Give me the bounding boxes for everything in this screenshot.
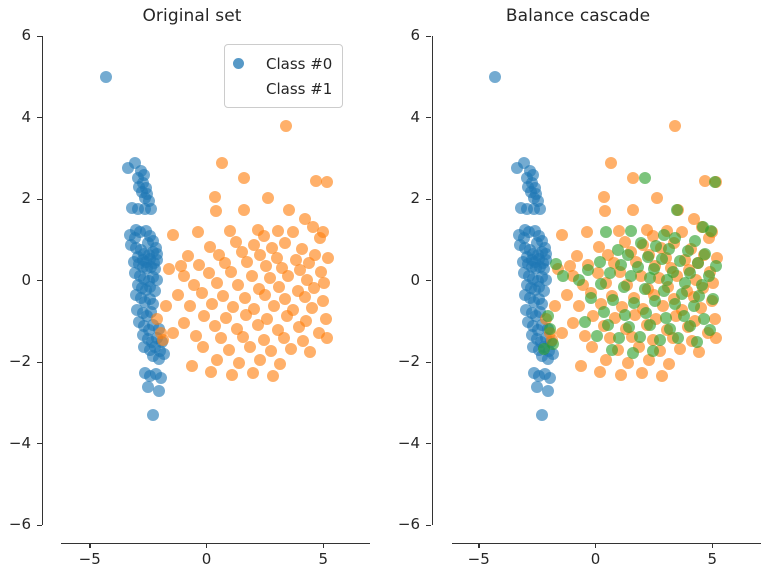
x-axis-tick-label: 5: [692, 552, 732, 567]
scatter-point: [615, 369, 627, 381]
scatter-point: [267, 370, 279, 382]
scatter-point: [679, 277, 691, 289]
scatter-point: [567, 317, 579, 329]
scatter-point: [206, 298, 218, 310]
scatter-point: [155, 372, 167, 384]
scatter-point: [634, 331, 646, 343]
scatter-point: [595, 278, 607, 290]
scatter-point: [669, 298, 681, 310]
y-axis-tick: [37, 443, 42, 444]
scatter-point: [321, 332, 333, 344]
y-axis-tick-label: −2: [5, 354, 31, 368]
scatter-point: [321, 176, 333, 188]
y-axis-tick: [37, 36, 42, 37]
scatter-point: [142, 381, 154, 393]
scatter-point: [296, 243, 308, 255]
scatter-point: [619, 309, 631, 321]
scatter-point: [223, 344, 235, 356]
legend-entry[interactable]: Class #0: [233, 51, 332, 76]
y-axis-tick: [426, 117, 431, 118]
scatter-point: [178, 317, 190, 329]
scatter-point: [640, 307, 652, 319]
legend-entry-label: Class #0: [266, 55, 332, 73]
scatter-point: [308, 282, 320, 294]
scatter-point: [233, 357, 245, 369]
scatter-point: [598, 191, 610, 203]
y-axis-tick: [426, 362, 431, 363]
scatter-point: [613, 332, 625, 344]
scatter-point: [536, 409, 548, 421]
x-axis-tick-label: 0: [576, 552, 616, 567]
scatter-point: [663, 358, 675, 370]
scatter-point: [280, 120, 292, 132]
scatter-point: [644, 319, 656, 331]
scatter-point: [240, 309, 252, 321]
scatter-point: [209, 320, 221, 332]
scatter-point: [247, 367, 259, 379]
scatter-point: [216, 157, 228, 169]
scatter-point: [561, 289, 573, 301]
x-axis-tick-label: 0: [187, 552, 227, 567]
scatter-point: [197, 341, 209, 353]
scatter-point: [145, 203, 157, 215]
scatter-point: [594, 366, 606, 378]
y-axis-tick-label: 4: [394, 110, 420, 124]
scatter-point: [238, 204, 250, 216]
scatter-point: [542, 385, 554, 397]
scatter-point: [232, 279, 244, 291]
scatter-point: [649, 295, 661, 307]
scatter-point: [618, 281, 630, 293]
scatter-point: [627, 347, 639, 359]
scatter-point: [287, 226, 299, 238]
legend-entry-label: Class #1: [266, 80, 332, 98]
scatter-point: [272, 225, 284, 237]
scatter-point: [244, 341, 256, 353]
scatter-point: [147, 409, 159, 421]
scatter-point: [254, 354, 266, 366]
scatter-point: [607, 294, 619, 306]
scatter-point: [304, 346, 316, 358]
x-axis-tick: [595, 543, 596, 548]
figure-canvas: Original set Class #0Class #1 Balance ca…: [0, 0, 771, 583]
scatter-point: [198, 310, 210, 322]
scatter-point: [674, 343, 686, 355]
scatter-point: [211, 354, 223, 366]
y-axis-tick-label: −6: [5, 517, 31, 531]
scatter-point: [599, 205, 611, 217]
scatter-point: [542, 310, 554, 322]
scatter-point: [215, 332, 227, 344]
scatter-point: [688, 300, 700, 312]
scatter-point: [598, 306, 610, 318]
scatter-point: [602, 319, 614, 331]
scatter-point: [586, 341, 598, 353]
scatter-point: [534, 203, 546, 215]
scatter-point: [211, 277, 223, 289]
scatter-point: [585, 292, 597, 304]
scatter-point: [709, 176, 721, 188]
scatter-point: [192, 226, 204, 238]
panel-title-original: Original set: [0, 2, 387, 30]
scatter-point: [538, 343, 550, 355]
legend-entry[interactable]: Class #1: [233, 76, 332, 101]
scatter-point: [238, 172, 250, 184]
legend-marker-icon: [233, 83, 244, 94]
scatter-point: [283, 204, 295, 216]
scatter-point: [268, 300, 280, 312]
scatter-point: [252, 319, 264, 331]
scatter-point: [259, 289, 271, 301]
scatter-point: [320, 313, 332, 325]
y-axis-tick-label: 2: [394, 191, 420, 205]
scatter-point: [605, 157, 617, 169]
scatter-point: [293, 321, 305, 333]
y-axis-tick: [426, 280, 431, 281]
scatter-point: [133, 181, 145, 193]
scatter-point: [639, 283, 651, 295]
scatter-point: [642, 251, 654, 263]
scatter-point: [281, 310, 293, 322]
scatter-point: [656, 370, 668, 382]
x-axis-tick: [206, 543, 207, 548]
legend-original[interactable]: Class #0Class #1: [224, 44, 343, 108]
x-axis-tick: [89, 543, 90, 548]
scatter-point: [651, 192, 663, 204]
scatter-point: [282, 270, 294, 282]
scatter-point: [205, 366, 217, 378]
scatter-point: [627, 204, 639, 216]
scatter-point: [556, 229, 568, 241]
scatter-point: [531, 381, 543, 393]
scatter-point: [279, 237, 291, 249]
scatter-point: [163, 263, 175, 275]
y-axis-tick: [37, 117, 42, 118]
scatter-point: [544, 372, 556, 384]
scatter-point: [279, 293, 291, 305]
scatter-point: [306, 302, 318, 314]
y-axis-tick-label: 2: [5, 191, 31, 205]
plot-area-original: [43, 36, 370, 525]
scatter-point: [225, 266, 237, 278]
scatter-point: [258, 230, 270, 242]
scatter-point: [258, 334, 270, 346]
scatter-point: [274, 358, 286, 370]
scatter-point: [172, 289, 184, 301]
scatter-point: [167, 229, 179, 241]
scatter-point: [278, 332, 290, 344]
scatter-point: [600, 226, 612, 238]
scatter-point: [224, 225, 236, 237]
x-axis-tick: [712, 543, 713, 548]
y-axis-tick: [37, 280, 42, 281]
y-axis-tick: [37, 199, 42, 200]
y-axis-tick-label: 6: [5, 28, 31, 42]
scatter-points-original: [43, 36, 370, 525]
scatter-point: [627, 172, 639, 184]
y-axis-tick-label: −2: [394, 354, 420, 368]
x-axis-tick-label: −5: [70, 552, 110, 567]
y-axis-tick: [426, 443, 431, 444]
scatter-point: [186, 360, 198, 372]
scatter-point: [273, 281, 285, 293]
scatter-point: [262, 192, 274, 204]
scatter-point: [260, 260, 272, 272]
scatter-point: [265, 345, 277, 357]
y-axis-tick: [37, 362, 42, 363]
scatter-point: [160, 300, 172, 312]
scatter-point: [178, 270, 190, 282]
scatter-point: [692, 257, 704, 269]
scatter-point: [705, 225, 717, 237]
scatter-point: [625, 270, 637, 282]
scatter-point: [594, 256, 606, 268]
y-axis-spine-balance-cascade: [432, 36, 433, 525]
scatter-point: [239, 292, 251, 304]
x-axis-tick: [323, 543, 324, 548]
scatter-point: [190, 330, 202, 342]
scatter-point: [158, 348, 170, 360]
y-axis-tick-label: −4: [5, 436, 31, 450]
scatter-point: [579, 316, 591, 328]
panel-original-set: Original set Class #0Class #1: [0, 0, 390, 583]
scatter-point: [604, 267, 616, 279]
scatter-point: [241, 256, 253, 268]
x-axis-spine-balance-cascade: [452, 543, 761, 544]
scatter-point: [591, 330, 603, 342]
scatter-point: [635, 237, 647, 249]
y-axis-tick: [426, 36, 431, 37]
y-axis-tick: [37, 525, 42, 526]
scatter-point: [669, 232, 681, 244]
y-axis-tick: [426, 525, 431, 526]
scatter-point: [317, 295, 329, 307]
y-axis-tick-label: −6: [394, 517, 420, 531]
panel-title-balance-cascade: Balance cascade: [383, 2, 771, 30]
scatter-point: [522, 181, 534, 193]
scatter-point: [581, 226, 593, 238]
scatter-point: [658, 285, 670, 297]
scatter-point: [625, 225, 637, 237]
scatter-point: [227, 301, 239, 313]
scatter-point: [297, 335, 309, 347]
scatter-point: [196, 287, 208, 299]
y-axis-tick-label: 0: [394, 273, 420, 287]
scatter-point: [573, 274, 585, 286]
scatter-point: [579, 330, 591, 342]
scatter-point: [489, 71, 501, 83]
scatter-point: [314, 232, 326, 244]
scatter-point: [209, 191, 221, 203]
scatter-point: [318, 277, 330, 289]
scatter-point: [550, 258, 562, 270]
y-axis-tick-label: 4: [5, 110, 31, 124]
y-axis-tick: [426, 199, 431, 200]
scatter-point: [153, 385, 165, 397]
scatter-point: [613, 225, 625, 237]
y-axis-tick-label: 6: [394, 28, 420, 42]
panel-balance-cascade: Balance cascade Class #0Class #1 - set #…: [381, 0, 771, 583]
scatter-point: [654, 334, 666, 346]
scatter-point: [684, 320, 696, 332]
y-axis-tick-label: −4: [394, 436, 420, 450]
scatter-point: [322, 252, 334, 264]
scatter-point: [100, 71, 112, 83]
scatter-point: [691, 336, 703, 348]
scatter-point: [226, 369, 238, 381]
scatter-point: [217, 290, 229, 302]
scatter-point: [674, 255, 686, 267]
x-axis-tick-label: −5: [459, 552, 499, 567]
scatter-point: [696, 279, 708, 291]
scatter-point: [672, 332, 684, 344]
scatter-point: [669, 120, 681, 132]
scatter-point: [639, 172, 651, 184]
scatter-point: [557, 270, 569, 282]
scatter-point: [661, 274, 673, 286]
plot-area-balance-cascade: [432, 36, 759, 525]
scatter-point: [184, 300, 196, 312]
y-axis-tick-label: 0: [5, 273, 31, 287]
legend-marker-icon: [233, 58, 244, 69]
scatter-points-balance-cascade: [432, 36, 759, 525]
scatter-point: [636, 367, 648, 379]
scatter-point: [246, 270, 258, 282]
scatter-point: [210, 205, 222, 217]
y-axis-spine-original: [42, 36, 43, 525]
scatter-point: [628, 297, 640, 309]
scatter-point: [647, 345, 659, 357]
scatter-point: [573, 300, 585, 312]
scatter-point: [285, 343, 297, 355]
scatter-point: [299, 291, 311, 303]
scatter-point: [220, 312, 232, 324]
scatter-point: [606, 344, 618, 356]
scatter-point: [575, 360, 587, 372]
x-axis-tick: [478, 543, 479, 548]
x-axis-tick-label: 5: [303, 552, 343, 567]
scatter-point: [650, 240, 662, 252]
